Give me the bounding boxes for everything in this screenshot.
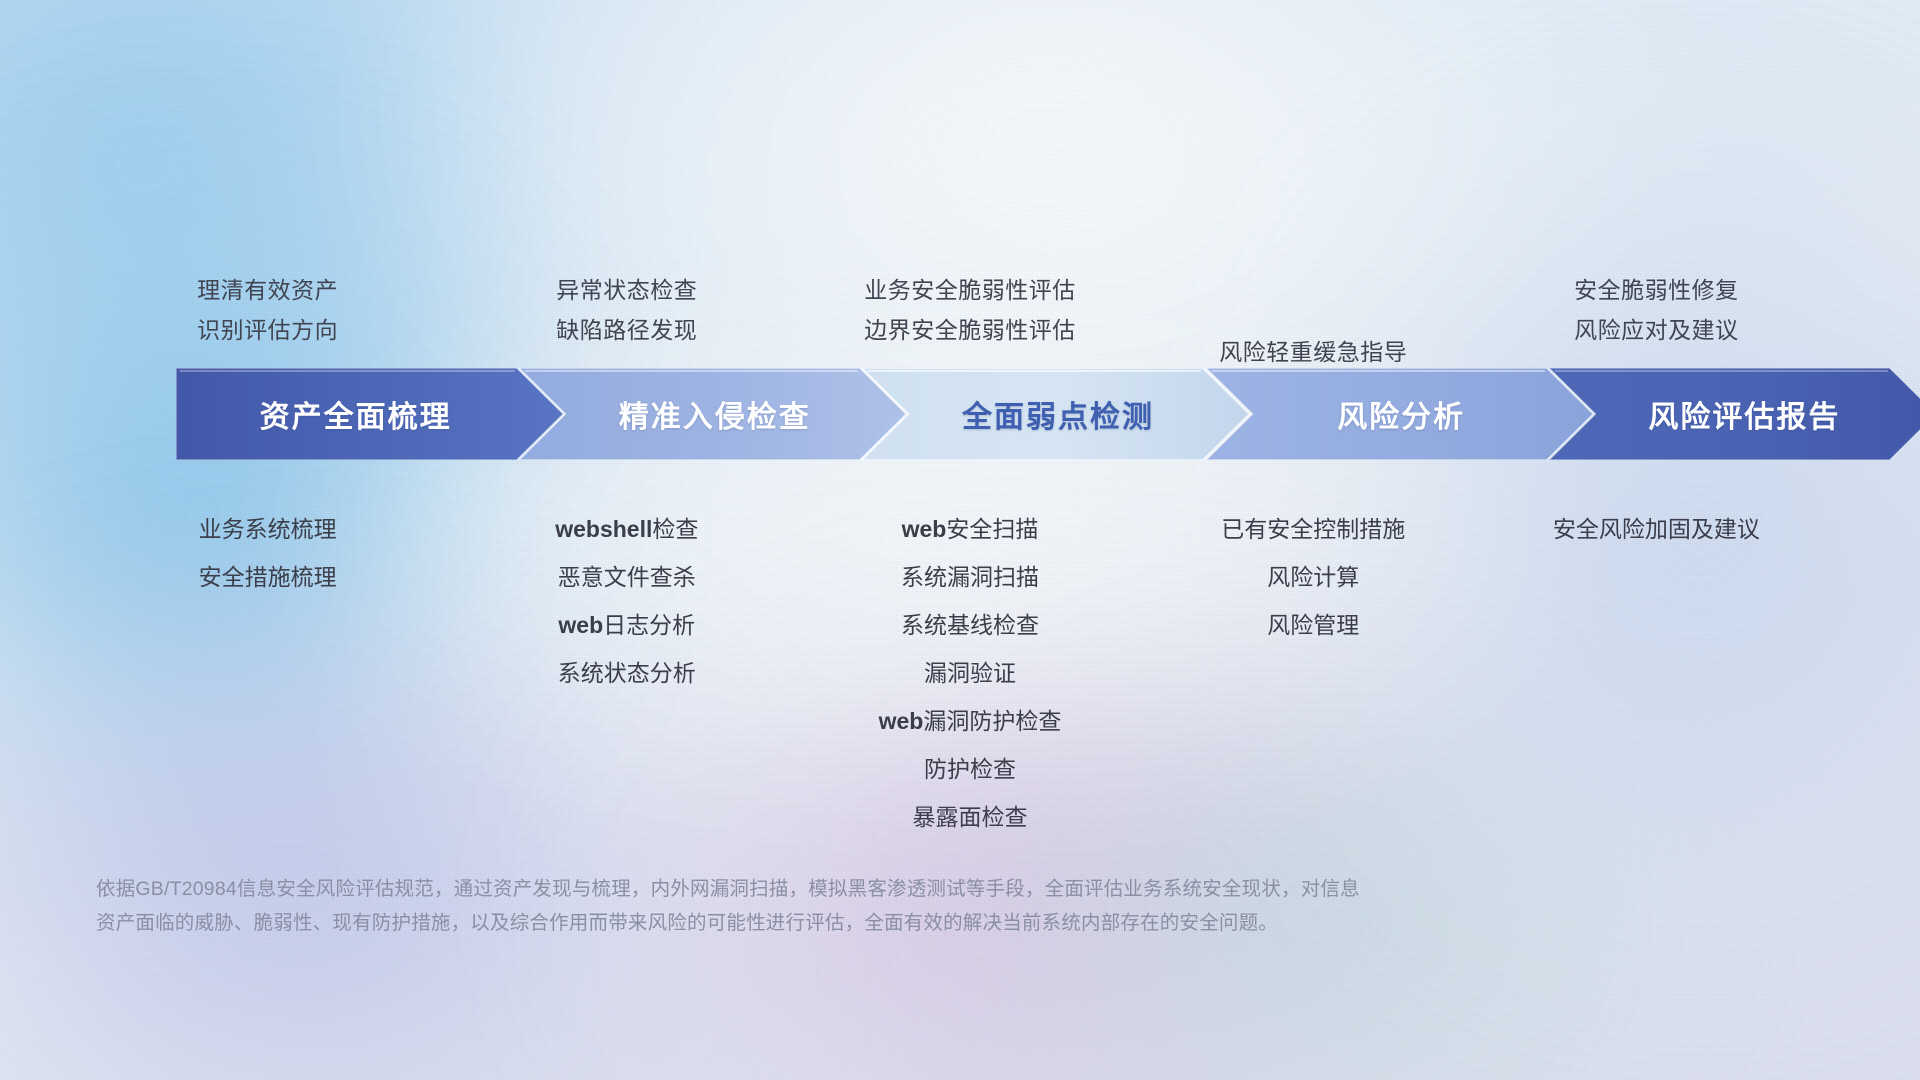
stage-title: 全面弱点检测 bbox=[962, 392, 1154, 436]
stage-chevron-intrusion-check[interactable]: 精准入侵检查 bbox=[519, 368, 906, 460]
top-label-item: 风险应对及建议 bbox=[1356, 310, 1920, 350]
footer-line: 资产面临的威胁、脆弱性、现有防护措施，以及综合作用而带来风险的可能性进行评估，全… bbox=[96, 906, 1736, 940]
bottom-label-item: web漏洞防护检查 bbox=[670, 697, 1270, 745]
top-label-item: 安全脆弱性修复 bbox=[1356, 270, 1920, 310]
diagram-content: 理清有效资产 识别评估方向 异常状态检查 缺陷路径发现 业务安全脆弱性评估 边界… bbox=[0, 0, 1920, 1080]
top-label-item: 业务安全脆弱性评估 bbox=[670, 270, 1270, 310]
stage-chevron-risk-report[interactable]: 风险评估报告 bbox=[1549, 368, 1920, 460]
process-arrow-band: 资产全面梳理 精准入侵检查 bbox=[88, 368, 1848, 460]
stage-chevron-risk-analysis[interactable]: 风险分析 bbox=[1206, 368, 1593, 460]
footer-line: 依据GB/T20984信息安全风险评估规范，通过资产发现与梳理，内外网漏洞扫描，… bbox=[96, 872, 1736, 906]
bottom-label-item: 暴露面检查 bbox=[670, 793, 1270, 841]
top-label-row: 理清有效资产 识别评估方向 异常状态检查 缺陷路径发现 业务安全脆弱性评估 边界… bbox=[0, 230, 1920, 350]
bottom-label-item: 防护检查 bbox=[670, 745, 1270, 793]
stage-chevron-weakness-detection[interactable]: 全面弱点检测 bbox=[862, 368, 1249, 460]
stage-title: 精准入侵检查 bbox=[619, 392, 811, 436]
stage-title: 资产全面梳理 bbox=[260, 392, 452, 436]
stage-chevron-asset-inventory[interactable]: 资产全面梳理 bbox=[176, 368, 563, 460]
bottom-label-item: 风险管理 bbox=[1013, 601, 1613, 649]
top-labels-risk-report: 安全脆弱性修复 风险应对及建议 bbox=[1356, 270, 1920, 350]
stage-title: 风险评估报告 bbox=[1648, 392, 1840, 436]
bottom-labels-risk-report: 安全风险加固及建议 bbox=[1356, 505, 1920, 553]
bottom-label-item: 风险计算 bbox=[1013, 553, 1613, 601]
bottom-label-item: 安全风险加固及建议 bbox=[1356, 505, 1920, 553]
stage-title: 风险分析 bbox=[1337, 392, 1465, 436]
footer-description: 依据GB/T20984信息安全风险评估规范，通过资产发现与梳理，内外网漏洞扫描，… bbox=[96, 872, 1736, 940]
bottom-label-item: 漏洞验证 bbox=[670, 649, 1270, 697]
bottom-label-row: 业务系统梳理 安全措施梳理 webshell检查 恶意文件查杀 web日志分析 … bbox=[0, 505, 1920, 825]
